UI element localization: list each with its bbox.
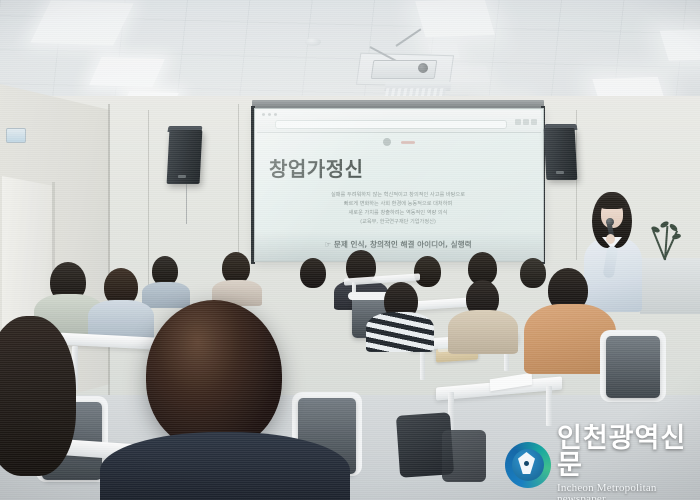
- browser-minimize-icon[interactable]: [515, 119, 521, 125]
- chair: [606, 336, 660, 398]
- speaker-badge: [556, 171, 564, 174]
- wall-panel-seam: [148, 110, 149, 310]
- watermark-english: Incheon Metropolitan newspaper: [557, 483, 695, 500]
- speaker-badge: [178, 175, 186, 178]
- speaker-cable: [186, 184, 187, 224]
- slide-subtitle-line: 실패를 두려워하지 않는 혁신적이고 창의적인 사고를 바탕으로: [269, 191, 527, 200]
- photo-scene: 창업가정신 실패를 두려워하지 않는 혁신적이고 창의적인 사고를 바탕으로 빠…: [0, 0, 700, 500]
- slide-title: 창업가정신: [269, 153, 527, 182]
- wall-speaker-left: [167, 130, 203, 184]
- browser-chrome: [257, 110, 541, 133]
- attendee-shoulders: [448, 310, 518, 354]
- presenter-fringe: [599, 198, 625, 209]
- attendee-head-foreground: [0, 316, 76, 476]
- wall-panel-seam: [238, 104, 239, 274]
- watermark: 인천광역신문 Incheon Metropolitan newspaper: [505, 437, 695, 493]
- slide-subtitle-line: 새로운 가치를 창출하려는 역동적인 역량 의식: [269, 209, 527, 218]
- screen-bottom-shadow: [255, 231, 543, 261]
- browser-maximize-icon[interactable]: [523, 119, 529, 125]
- attendee-shoulders: [142, 282, 190, 308]
- attendee-head: [414, 256, 441, 287]
- presenter: [578, 192, 648, 312]
- slide-subtitle-line: 빠르게 변화하는 사회 환경에 능동적으로 대처하며: [269, 200, 527, 209]
- browser-dot-icon: [274, 113, 277, 116]
- watermark-korean: 인천광역신문: [557, 425, 695, 479]
- slide-header-badge: [401, 141, 415, 144]
- slide-subtitle-line: (교육부, 한국연구재단 기업가정신): [269, 218, 527, 227]
- bag: [442, 430, 486, 482]
- podium: [640, 258, 700, 314]
- pen-nib-dot-icon: [524, 461, 529, 466]
- incheon-newspaper-logo-icon: [505, 442, 551, 488]
- plant-leaf: [672, 233, 682, 240]
- slide-header-row: [255, 133, 543, 151]
- attendee-head: [520, 258, 546, 288]
- slide-subtitle: 실패를 두려워하지 않는 혁신적이고 창의적인 사고를 바탕으로 빠르게 변화하…: [269, 191, 527, 227]
- browser-url-bar[interactable]: [275, 120, 507, 129]
- watermark-text: 인천광역신문 Incheon Metropolitan newspaper: [557, 425, 695, 500]
- presenter-hand: [606, 234, 615, 244]
- browser-dot-icon: [268, 113, 271, 116]
- emergency-light-icon: [6, 128, 26, 143]
- wall-speaker-right: [544, 128, 578, 180]
- attendee-head: [300, 258, 326, 288]
- desk-leg: [546, 386, 552, 426]
- wall-panel-seam: [576, 110, 577, 260]
- attendee-shoulders: [366, 312, 434, 352]
- browser-close-icon[interactable]: [531, 119, 537, 125]
- attendee-shoulders-foreground: [100, 432, 350, 500]
- microphone-head-icon: [606, 218, 614, 226]
- slide-header-icon: [383, 138, 391, 146]
- plant-stem: [652, 230, 665, 260]
- browser-tab-dots: [262, 113, 277, 116]
- browser-dot-icon: [262, 113, 265, 116]
- wall-corner: [108, 104, 110, 404]
- attendee-head-foreground: [146, 300, 282, 450]
- plant-leaf: [659, 220, 669, 229]
- projection-screen: 창업가정신 실패를 두려워하지 않는 혁신적이고 창의적인 사고를 바탕으로 빠…: [254, 108, 544, 262]
- decor-plant: [648, 216, 682, 260]
